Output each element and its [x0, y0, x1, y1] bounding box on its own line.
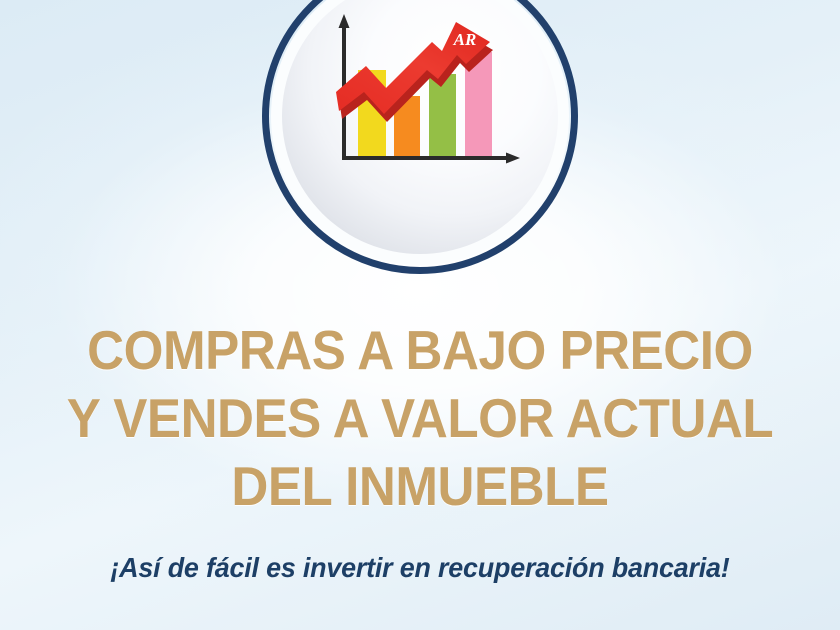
circular-emblem: AR: [262, 0, 578, 274]
bar-3: [429, 74, 456, 158]
headline-line-1: COMPRAS A BAJO PRECIO: [29, 316, 810, 384]
headline-block: COMPRAS A BAJO PRECIO Y VENDES A VALOR A…: [0, 316, 840, 520]
headline-line-3: DEL INMUEBLE: [29, 452, 810, 520]
headline-line-2: Y VENDES A VALOR ACTUAL: [29, 384, 810, 452]
subtitle-text: ¡Así de fácil es invertir en recuperació…: [17, 548, 823, 588]
growth-bar-chart: AR: [314, 8, 532, 198]
promo-poster: AR COMPRAS A BAJO PRECIO Y VENDES A VALO…: [0, 0, 840, 630]
arrow-monogram-logo: AR: [453, 30, 477, 49]
